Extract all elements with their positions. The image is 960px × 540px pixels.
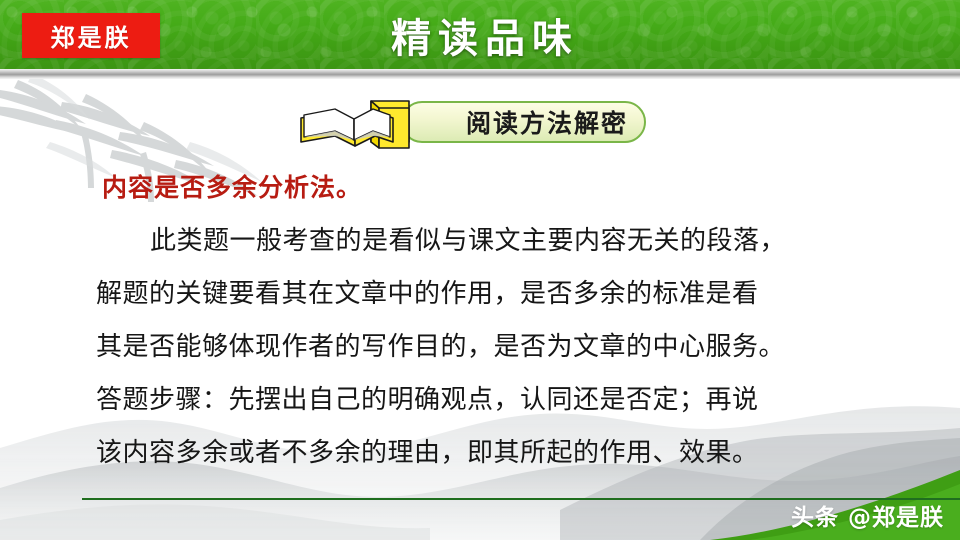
slide-canvas: 精读品味 郑是朕 阅读方法解密 内容是否多余分析法。 此类题一般考查的是看似与课… xyxy=(0,0,960,540)
content-block: 内容是否多余分析法。 此类题一般考查的是看似与课文主要内容无关的段落， 解题的关… xyxy=(96,168,896,485)
content-line-3: 其是否能够体现作者的写作目的，是否为文章的中心服务。 xyxy=(96,326,896,363)
open-book-icon xyxy=(297,98,417,150)
section-badge-label: 阅读方法解密 xyxy=(466,104,628,140)
header-divider-bar xyxy=(0,69,960,79)
logo-badge-label: 郑是朕 xyxy=(51,18,132,53)
watermark-label: 头条 @郑是朕 xyxy=(791,498,944,532)
section-badge: 阅读方法解密 xyxy=(297,96,667,152)
content-line-4: 答题步骤：先摆出自己的明确观点，认同还是否定；再说 xyxy=(96,379,896,416)
content-line-1: 此类题一般考查的是看似与课文主要内容无关的段落， xyxy=(96,220,896,257)
content-line-2: 解题的关键要看其在文章中的作用，是否多余的标准是看 xyxy=(96,273,896,310)
content-line-5: 该内容多余或者不多余的理由，即其所起的作用、效果。 xyxy=(96,432,896,469)
section-badge-pill: 阅读方法解密 xyxy=(401,101,646,143)
logo-badge: 郑是朕 xyxy=(22,13,160,58)
content-lead: 内容是否多余分析法。 xyxy=(102,168,896,204)
